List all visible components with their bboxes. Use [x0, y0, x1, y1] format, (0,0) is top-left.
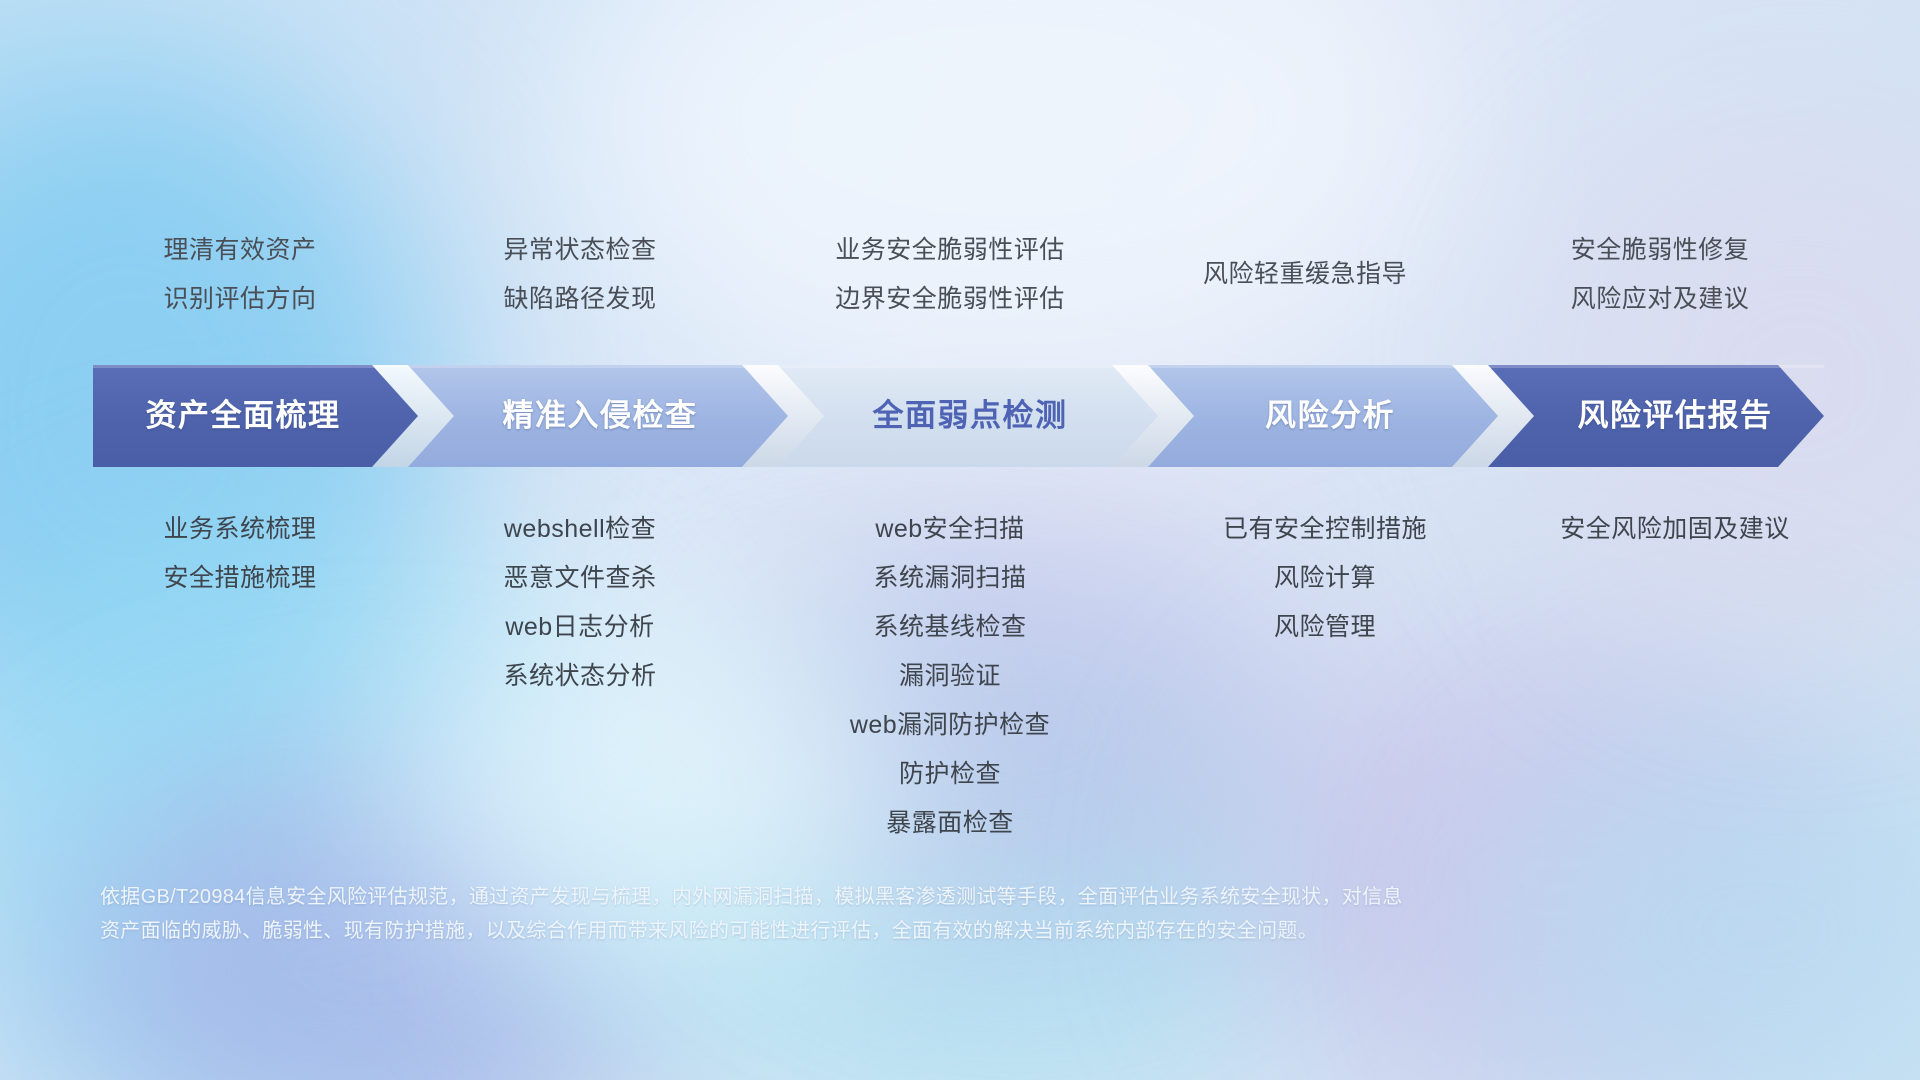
footnote: 依据GB/T20984信息安全风险评估规范，通过资产发现与梳理，内外网漏洞扫描，… — [100, 880, 1660, 948]
top-label-item: 边界安全脆弱性评估 — [780, 275, 1120, 324]
bottom-label-item: 暴露面检查 — [790, 799, 1110, 848]
bottom-label-item: 系统漏洞扫描 — [790, 554, 1110, 603]
bottom-label-item: 风险管理 — [1170, 603, 1480, 652]
footnote-line-1: 依据GB/T20984信息安全风险评估规范，通过资产发现与梳理，内外网漏洞扫描，… — [100, 880, 1660, 914]
bottom-label-item: 已有安全控制措施 — [1170, 505, 1480, 554]
stage-bottom-labels-weakness-detection: web安全扫描 系统漏洞扫描 系统基线检查 漏洞验证 web漏洞防护检查 防护检… — [790, 505, 1110, 848]
top-label-item: 安全脆弱性修复 — [1500, 226, 1820, 275]
top-label-item: 业务安全脆弱性评估 — [780, 226, 1120, 275]
bottom-label-item: web漏洞防护检查 — [790, 701, 1110, 750]
footnote-line-2: 资产面临的威胁、脆弱性、现有防护措施，以及综合作用而带来风险的可能性进行评估，全… — [100, 914, 1660, 948]
top-label-item: 理清有效资产 — [90, 226, 390, 275]
stage-top-labels-intrusion-check: 异常状态检查 缺陷路径发现 — [430, 226, 730, 324]
process-diagram: 理清有效资产 识别评估方向 异常状态检查 缺陷路径发现 业务安全脆弱性评估 边界… — [0, 0, 1920, 1080]
stage-top-labels-risk-analysis: 风险轻重缓急指导 — [1155, 250, 1455, 299]
bottom-label-item: 安全措施梳理 — [90, 554, 390, 603]
chevron-title-risk-analysis[interactable]: 风险分析 — [1180, 365, 1480, 467]
top-label-item: 风险应对及建议 — [1500, 275, 1820, 324]
bottom-label-item: web日志分析 — [430, 603, 730, 652]
stage-top-labels-weakness-detection: 业务安全脆弱性评估 边界安全脆弱性评估 — [780, 226, 1120, 324]
stage-top-labels-risk-report: 安全脆弱性修复 风险应对及建议 — [1500, 226, 1820, 324]
stage-top-labels-asset-review: 理清有效资产 识别评估方向 — [90, 226, 390, 324]
stage-bottom-labels-asset-review: 业务系统梳理 安全措施梳理 — [90, 505, 390, 603]
bottom-label-item: web安全扫描 — [790, 505, 1110, 554]
stage-bottom-labels-intrusion-check: webshell检查 恶意文件查杀 web日志分析 系统状态分析 — [430, 505, 730, 701]
chevron-title-weakness-detection[interactable]: 全面弱点检测 — [810, 365, 1130, 467]
bottom-label-item: 防护检查 — [790, 750, 1110, 799]
bottom-label-item: 安全风险加固及建议 — [1510, 505, 1840, 554]
stage-bottom-labels-risk-analysis: 已有安全控制措施 风险计算 风险管理 — [1170, 505, 1480, 652]
top-label-item: 识别评估方向 — [90, 275, 390, 324]
bottom-label-item: 系统状态分析 — [430, 652, 730, 701]
chevron-title-risk-report[interactable]: 风险评估报告 — [1520, 365, 1830, 467]
stage-bottom-labels-risk-report: 安全风险加固及建议 — [1510, 505, 1840, 554]
bottom-label-item: webshell检查 — [430, 505, 730, 554]
bottom-label-item: 业务系统梳理 — [90, 505, 390, 554]
chevron-title-asset-review[interactable]: 资产全面梳理 — [93, 365, 393, 467]
top-label-item: 异常状态检查 — [430, 226, 730, 275]
chevron-title-intrusion-check[interactable]: 精准入侵检查 — [440, 365, 760, 467]
bottom-label-item: 漏洞验证 — [790, 652, 1110, 701]
bottom-label-item: 风险计算 — [1170, 554, 1480, 603]
top-label-item: 缺陷路径发现 — [430, 275, 730, 324]
top-label-item: 风险轻重缓急指导 — [1155, 250, 1455, 299]
bottom-label-item: 系统基线检查 — [790, 603, 1110, 652]
bottom-label-item: 恶意文件查杀 — [430, 554, 730, 603]
